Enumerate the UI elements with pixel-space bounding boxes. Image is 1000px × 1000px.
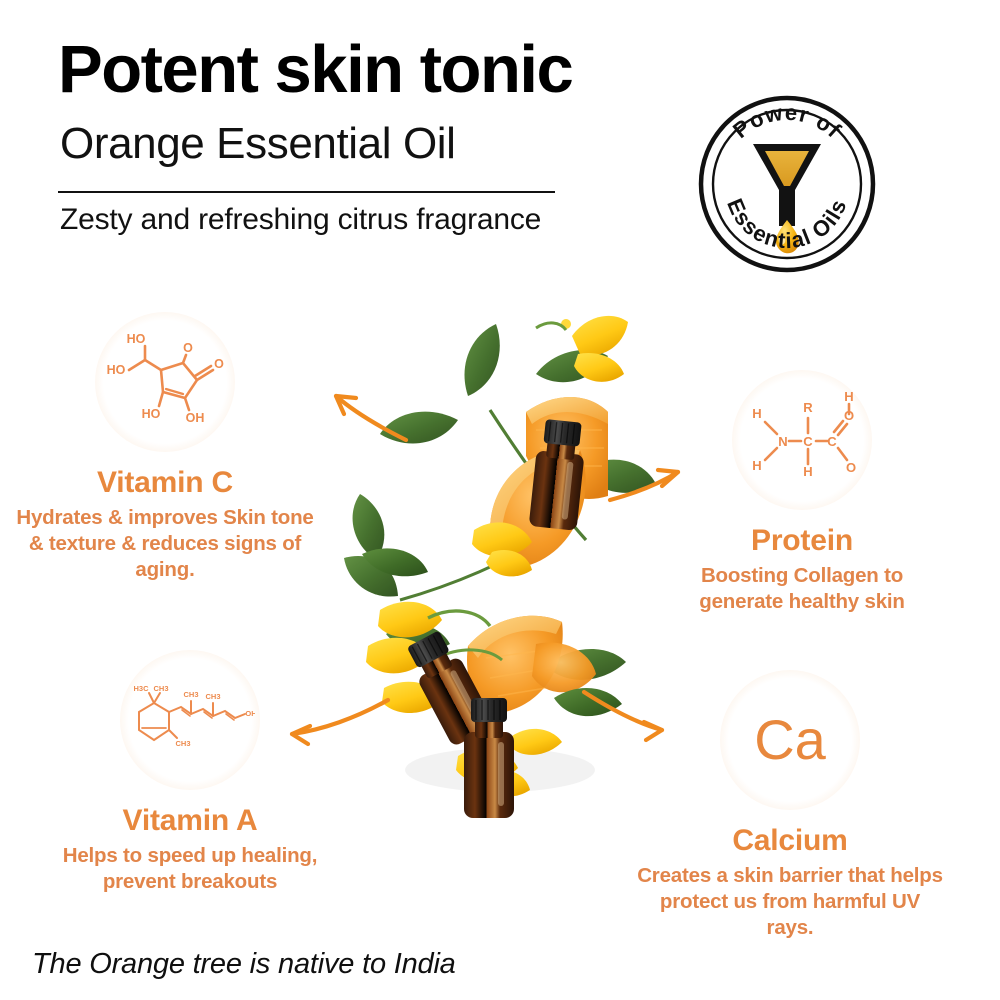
svg-text:HO: HO [127,332,146,346]
svg-text:OH: OH [245,709,255,718]
nutrient-card-calcium: Ca Calcium Creates a skin barrier that h… [625,670,955,942]
svg-text:H: H [844,389,853,404]
svg-text:H: H [752,406,761,421]
ascorbic-acid-molecule-icon: HO HO O O HO OH [103,330,227,434]
svg-text:C: C [827,434,837,449]
svg-text:H3C: H3C [133,684,149,693]
nutrient-card-vitamin-c: HO HO O O HO OH Vitamin C Hydrates & imp… [0,312,330,584]
protein-bubble: H H N C R H C O H O [732,370,872,510]
svg-text:N: N [778,434,787,449]
calcium-bubble: Ca [720,670,860,810]
page-title: Potent skin tonic [58,36,572,103]
svg-text:CH3: CH3 [153,684,168,693]
svg-text:R: R [803,400,813,415]
svg-text:O: O [844,408,854,423]
infographic-page: Potent skin tonic Orange Essential Oil Z… [0,0,1000,1000]
svg-text:O: O [846,460,856,475]
svg-text:CH3: CH3 [205,692,220,701]
vitamin-a-bubble: H3C CH3 CH3 CH3 CH3 OH [120,650,260,790]
vitamin-c-bubble: HO HO O O HO OH [95,312,235,452]
page-subtitle: Orange Essential Oil [60,122,456,166]
vitamin-a-description: Helps to speed up healing, prevent break… [25,843,355,895]
footer-note: The Orange tree is native to India [32,948,456,981]
vitamin-c-description: Hydrates & improves Skin tone & texture … [0,505,330,584]
calcium-symbol-icon: Ca [754,712,826,768]
svg-text:C: C [803,434,813,449]
header-divider [58,191,555,193]
svg-text:O: O [214,357,224,371]
retinol-molecule-icon: H3C CH3 CH3 CH3 CH3 OH [125,682,255,758]
svg-text:HO: HO [107,363,126,377]
oil-bottle-bottom [464,698,514,818]
power-of-essential-oils-seal: Power of Essential Oils [697,94,877,274]
calcium-title: Calcium [625,824,955,857]
svg-text:CH3: CH3 [175,739,190,748]
svg-text:OH: OH [186,411,205,425]
svg-text:CH3: CH3 [183,690,198,699]
calcium-description: Creates a skin barrier that helps protec… [625,863,955,942]
nutrient-card-vitamin-a: H3C CH3 CH3 CH3 CH3 OH Vitamin A Helps t… [25,650,355,895]
vitamin-a-title: Vitamin A [25,804,355,837]
protein-title: Protein [637,524,967,557]
svg-text:O: O [183,341,193,355]
svg-text:H: H [803,464,812,479]
page-tagline: Zesty and refreshing citrus fragrance [60,205,541,235]
product-photo [340,300,660,840]
svg-text:HO: HO [142,407,161,421]
amino-acid-molecule-icon: H H N C R H C O H O [743,388,861,492]
orange-slices [467,397,608,714]
vitamin-c-title: Vitamin C [0,466,330,499]
svg-text:H: H [752,458,761,473]
protein-description: Boosting Collagen to generate healthy sk… [637,563,967,615]
nutrient-card-protein: H H N C R H C O H O Protein Boosting Col… [637,370,967,615]
